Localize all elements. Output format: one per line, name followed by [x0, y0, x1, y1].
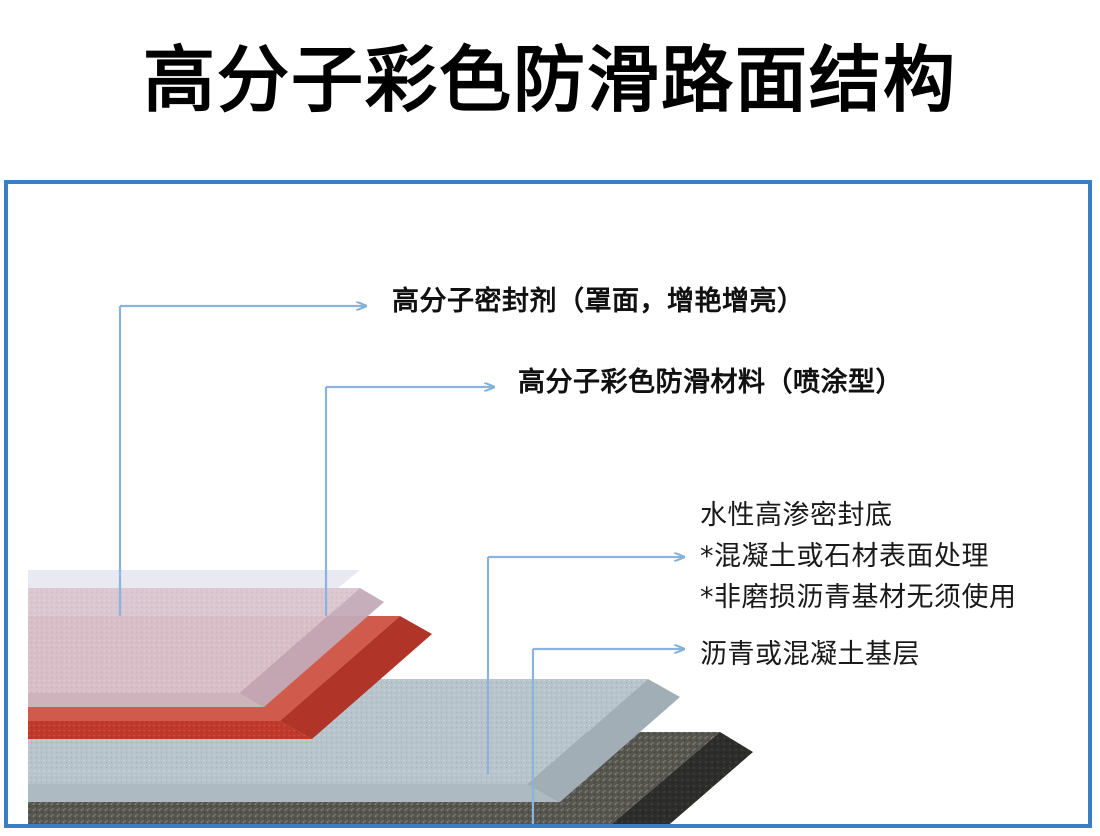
callout-primer-line-3: *非磨损沥青基材无须使用: [700, 577, 1017, 618]
callout-label-antislip: 高分子彩色防滑材料（喷涂型）: [518, 366, 903, 400]
callout-label-sealant: 高分子密封剂（罩面，增艳增亮）: [392, 285, 805, 319]
page-title: 高分子彩色防滑路面结构: [0, 38, 1100, 122]
callout-primer-line-1: 水性高渗密封底: [700, 495, 1017, 536]
callout-label-base: 沥青或混凝土基层: [700, 634, 920, 675]
callout-label-primer: 水性高渗密封底 *混凝土或石材表面处理 *非磨损沥青基材无须使用: [700, 495, 1017, 618]
callout-primer-line-2: *混凝土或石材表面处理: [700, 536, 1017, 577]
